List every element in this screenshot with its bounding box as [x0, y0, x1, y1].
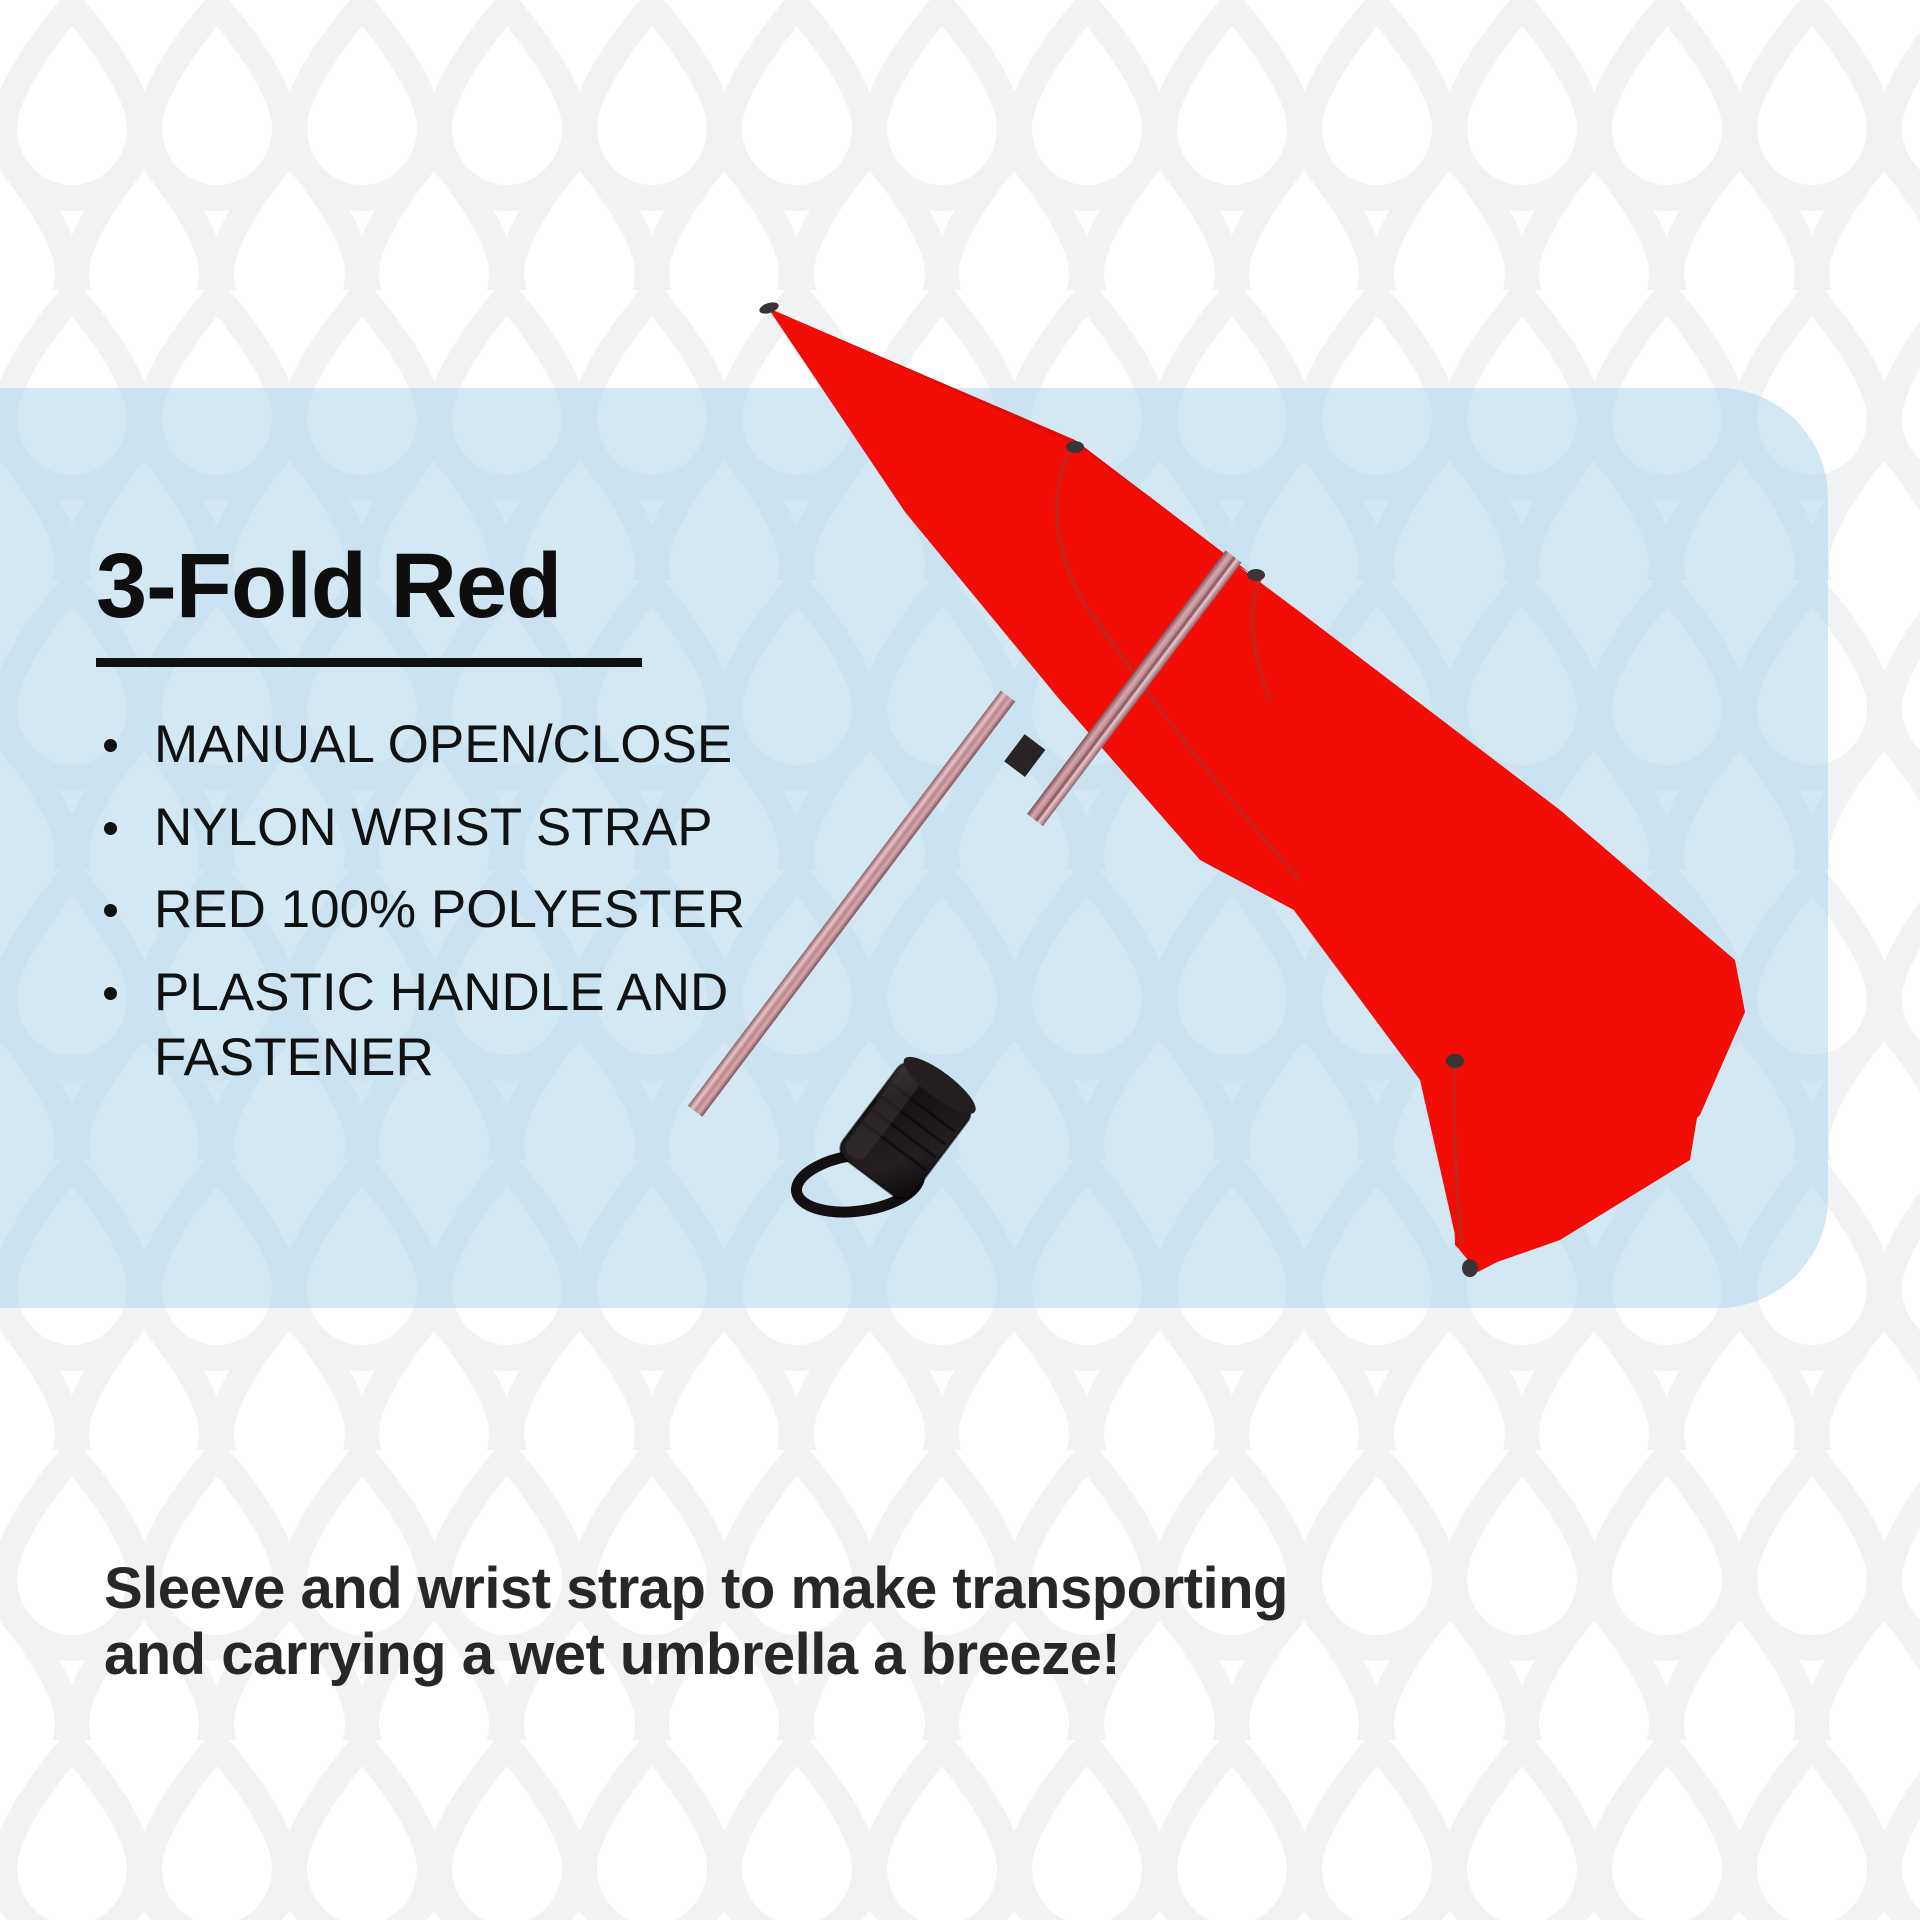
title-divider: [96, 658, 642, 667]
feature-text: PLASTIC HANDLE AND FASTENER: [154, 963, 728, 1087]
feature-text: MANUAL OPEN/CLOSE: [154, 715, 732, 774]
footer-caption: Sleeve and wrist strap to make transport…: [104, 1556, 1604, 1688]
feature-text: NYLON WRIST STRAP: [154, 798, 713, 857]
list-item: RED 100% POLYESTER: [96, 878, 836, 943]
bullet-dot-icon: [104, 904, 117, 917]
feature-text: RED 100% POLYESTER: [154, 880, 745, 939]
list-item: MANUAL OPEN/CLOSE: [96, 713, 836, 778]
bullet-dot-icon: [104, 987, 117, 1000]
caption-line-2: and carrying a wet umbrella a breeze!: [104, 1622, 1604, 1688]
page-title: 3-Fold Red: [96, 540, 836, 632]
feature-list: MANUAL OPEN/CLOSE NYLON WRIST STRAP RED …: [96, 713, 836, 1090]
caption-line-1: Sleeve and wrist strap to make transport…: [104, 1556, 1604, 1622]
bullet-dot-icon: [104, 822, 117, 835]
product-info-block: 3-Fold Red MANUAL OPEN/CLOSE NYLON WRIST…: [96, 540, 836, 1108]
list-item: NYLON WRIST STRAP: [96, 796, 836, 861]
list-item: PLASTIC HANDLE AND FASTENER: [96, 961, 836, 1090]
infographic-canvas: 3-Fold Red MANUAL OPEN/CLOSE NYLON WRIST…: [0, 0, 1920, 1920]
bullet-dot-icon: [104, 739, 117, 752]
